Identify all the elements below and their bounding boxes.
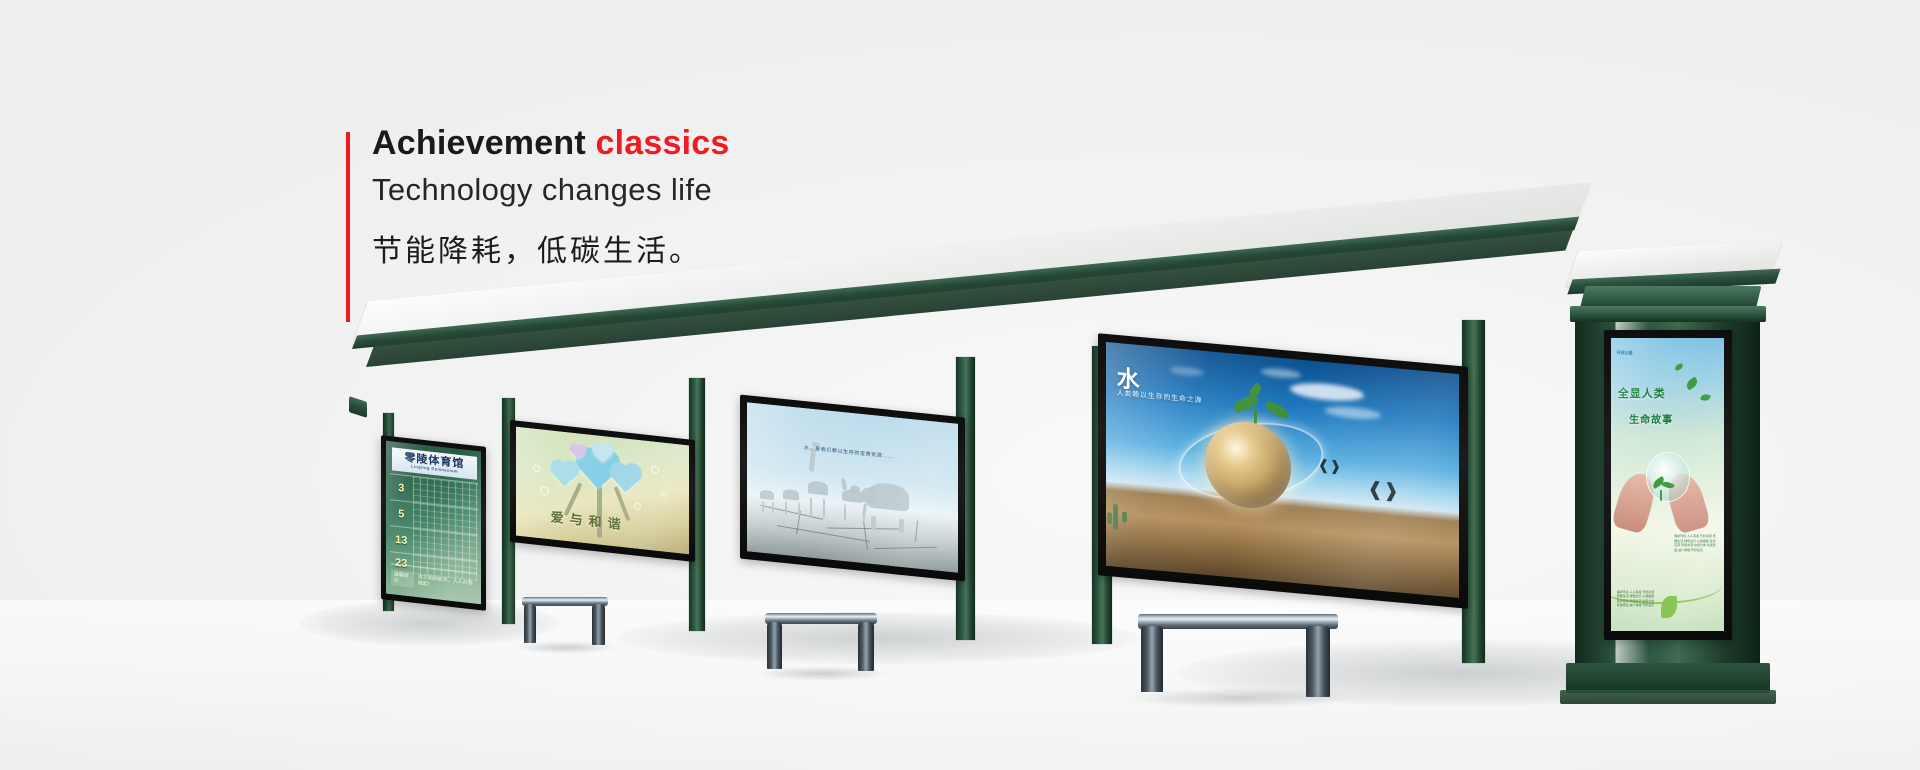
green-hands-artwork: 环保公益 全显人类 生命故事 保护环境 人人有责 节约资源 低碳生活 绿色出行 … <box>1611 338 1724 631</box>
bench-leg <box>524 604 536 643</box>
cloud <box>1261 367 1301 380</box>
water-earth-artwork: ❰❱ ❰❱ 水 人类赖以生存的生命之源 <box>1106 342 1459 598</box>
tower-plinth <box>1560 690 1776 704</box>
lightbox-water-earth[interactable]: ❰❱ ❰❱ 水 人类赖以生存的生命之源 <box>1098 333 1468 609</box>
tower-base <box>1566 663 1770 693</box>
animals-artwork: 水，是我们赖以生存的宝贵资源…… <box>747 402 958 572</box>
cactus-arm <box>1122 511 1127 522</box>
bench-leg <box>767 622 782 669</box>
bench-leg <box>1141 626 1163 692</box>
seedling-stem <box>1660 490 1662 501</box>
bus-shelter-render: 零陵体育馆 Lingling Gymnasium 3 5 13 23 <box>0 0 1920 770</box>
lion-leg <box>762 501 764 512</box>
floating-leaf <box>1684 377 1699 391</box>
lightbox-animals-drought[interactable]: 水，是我们赖以生存的宝贵资源…… <box>740 395 965 582</box>
animals-lightbox-screen: 水，是我们赖以生存的宝贵资源…… <box>747 402 958 572</box>
cloud <box>1290 381 1364 404</box>
route-board-artwork: 零陵体育馆 Lingling Gymnasium 3 5 13 23 <box>386 441 481 605</box>
cloud <box>1170 366 1204 377</box>
bench-shadow <box>514 641 618 654</box>
seedling-globe <box>1646 452 1690 502</box>
elephant-leg <box>871 516 876 531</box>
canopy-left-endcap <box>349 396 367 418</box>
cloud <box>1325 404 1381 420</box>
bench-shadow <box>755 666 889 681</box>
bench-leg <box>1306 626 1330 697</box>
antelope-leg <box>798 503 800 516</box>
hearts-lightbox-screen: 爱与和谐 <box>516 427 689 555</box>
cactus-arm <box>1107 512 1112 524</box>
lightbox-hearts-tree[interactable]: 爱与和谐 <box>510 420 695 562</box>
giraffe-body <box>808 480 828 495</box>
camel-neck <box>841 477 847 489</box>
green-body-text-secondary: 保护环境 人人有责 节约资源 低碳生活 绿色出行 从我做起 爱护花草 珍惜水源 … <box>1617 590 1655 622</box>
route-number: 5 <box>390 507 413 522</box>
tower-shoulder <box>1570 306 1766 322</box>
elephant-leg <box>899 519 904 534</box>
bubble <box>661 490 667 497</box>
lightbox-green-hands-tower[interactable]: 环保公益 全显人类 生命故事 保护环境 人人有责 节约资源 低碳生活 绿色出行 … <box>1604 330 1732 640</box>
floating-leaf <box>1675 364 1684 372</box>
bird-icon: ❰❱ <box>1318 457 1341 473</box>
floating-leaf <box>1701 392 1712 401</box>
route-footer-tag: 温馨提示 <box>391 569 414 588</box>
lion-body <box>760 490 774 500</box>
camel-leg <box>863 506 865 522</box>
heart-shape <box>552 462 576 486</box>
route-board-screen: 零陵体育馆 Lingling Gymnasium 3 5 13 23 <box>386 441 481 605</box>
giraffe-leg <box>810 498 812 517</box>
route-footer-note: 讲文明树新风，人人从我做起！ <box>418 574 477 593</box>
route-number: 3 <box>390 481 413 496</box>
antelope-leg <box>785 501 787 514</box>
bubble <box>651 465 659 474</box>
route-number: 13 <box>390 533 413 548</box>
hearts-caption: 爱与和谐 <box>551 507 627 534</box>
bird-icon: ❰❱ <box>1367 480 1399 502</box>
sprout-stem <box>1254 409 1257 423</box>
camel-leg <box>844 505 846 521</box>
bench-shadow <box>1124 688 1356 708</box>
bench-leg <box>858 622 874 671</box>
bench-middle[interactable] <box>765 613 877 671</box>
sprout-leaf <box>1264 400 1290 419</box>
green-body-text: 保护环境 人人有责 节约资源 低碳生活 绿色出行 从我做起 爱护花草 珍惜水源 … <box>1674 534 1717 587</box>
water-subtitle: 人类赖以生存的生命之源 <box>1117 388 1203 406</box>
bubble <box>634 503 641 511</box>
animals-caption: 水，是我们赖以生存的宝贵资源…… <box>804 444 894 460</box>
brand-label: 环保公益 <box>1617 350 1633 356</box>
green-title-line2: 生命故事 <box>1629 411 1673 426</box>
water-lightbox-screen: ❰❱ ❰❱ 水 人类赖以生存的生命之源 <box>1106 342 1459 598</box>
green-title-line1: 全显人类 <box>1618 385 1666 401</box>
bubble <box>533 464 540 472</box>
crack-line <box>915 520 918 541</box>
bench-leg <box>592 604 605 645</box>
cactus <box>1113 504 1118 530</box>
camel-hump <box>850 484 860 493</box>
bench-right[interactable] <box>1138 614 1338 698</box>
tower-lightbox-screen: 环保公益 全显人类 生命故事 保护环境 人人有责 节约资源 低碳生活 绿色出行 … <box>1611 338 1724 631</box>
giraffe-leg <box>823 499 825 518</box>
crack-line <box>863 521 868 549</box>
bench-left[interactable] <box>522 597 608 645</box>
antelope-body <box>783 489 799 501</box>
bottom-leaf <box>1661 596 1677 618</box>
crack-line <box>874 546 937 548</box>
bubble <box>540 486 549 496</box>
hearts-tree-artwork: 爱与和谐 <box>516 427 689 555</box>
ground-shadow-left <box>300 600 560 646</box>
lightbox-route-info[interactable]: 零陵体育馆 Lingling Gymnasium 3 5 13 23 <box>381 435 486 611</box>
crack-line <box>760 505 823 520</box>
